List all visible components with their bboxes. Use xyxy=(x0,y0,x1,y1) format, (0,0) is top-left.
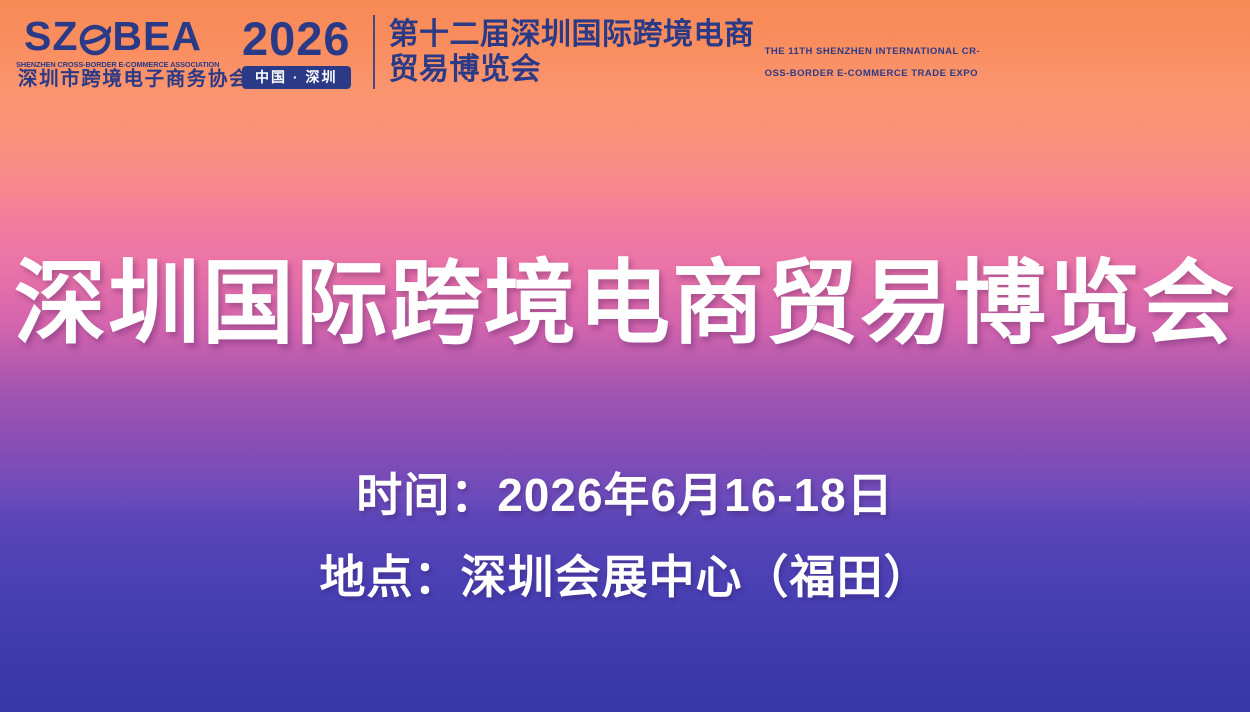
event-date: 时间：2026年6月16-18日 xyxy=(0,455,1250,537)
event-venue: 地点：深圳会展中心（福田） xyxy=(0,537,1250,619)
edition-year-block: 2026 中国 · 深圳 xyxy=(242,15,351,89)
location-badge: 中国 · 深圳 xyxy=(242,66,351,89)
expo-title-cn-line2: 贸易博览会 xyxy=(389,52,755,87)
association-chinese-name: 深圳市跨境电子商务协会 xyxy=(18,70,208,90)
association-logo: SZ BEA SHENZHEN CROSS-BORDER E-COMMERCE … xyxy=(18,14,208,90)
header-divider xyxy=(373,15,375,89)
banner-header: SZ BEA SHENZHEN CROSS-BORDER E-COMMERCE … xyxy=(0,0,1250,104)
globe-e-icon xyxy=(79,22,111,54)
association-english-name: SHENZHEN CROSS-BORDER E-COMMERCE ASSOCIA… xyxy=(16,61,210,68)
expo-title-cn-line1: 第十二届深圳国际跨境电商 xyxy=(389,17,755,52)
wordmark-prefix: SZ xyxy=(24,16,78,57)
hero-headline: 深圳国际跨境电商贸易博览会 xyxy=(0,258,1250,350)
expo-title-en-line1: THE 11TH SHENZHEN INTERNATIONAL CR- xyxy=(765,44,981,61)
event-details: 时间：2026年6月16-18日 地点：深圳会展中心（福田） xyxy=(0,455,1250,619)
association-wordmark: SZ BEA xyxy=(18,14,208,58)
wordmark-suffix: BEA xyxy=(112,16,202,57)
expo-title-block: 第十二届深圳国际跨境电商 贸易博览会 THE 11TH SHENZHEN INT… xyxy=(389,17,981,88)
expo-promo-banner: SZ BEA SHENZHEN CROSS-BORDER E-COMMERCE … xyxy=(0,0,1250,712)
edition-year: 2026 xyxy=(242,15,351,62)
expo-title-en-line2: OSS-BORDER E-COMMERCE TRADE EXPO xyxy=(765,66,981,83)
expo-title-chinese: 第十二届深圳国际跨境电商 贸易博览会 xyxy=(389,17,755,88)
expo-title-english: THE 11TH SHENZHEN INTERNATIONAL CR- OSS-… xyxy=(755,44,981,87)
